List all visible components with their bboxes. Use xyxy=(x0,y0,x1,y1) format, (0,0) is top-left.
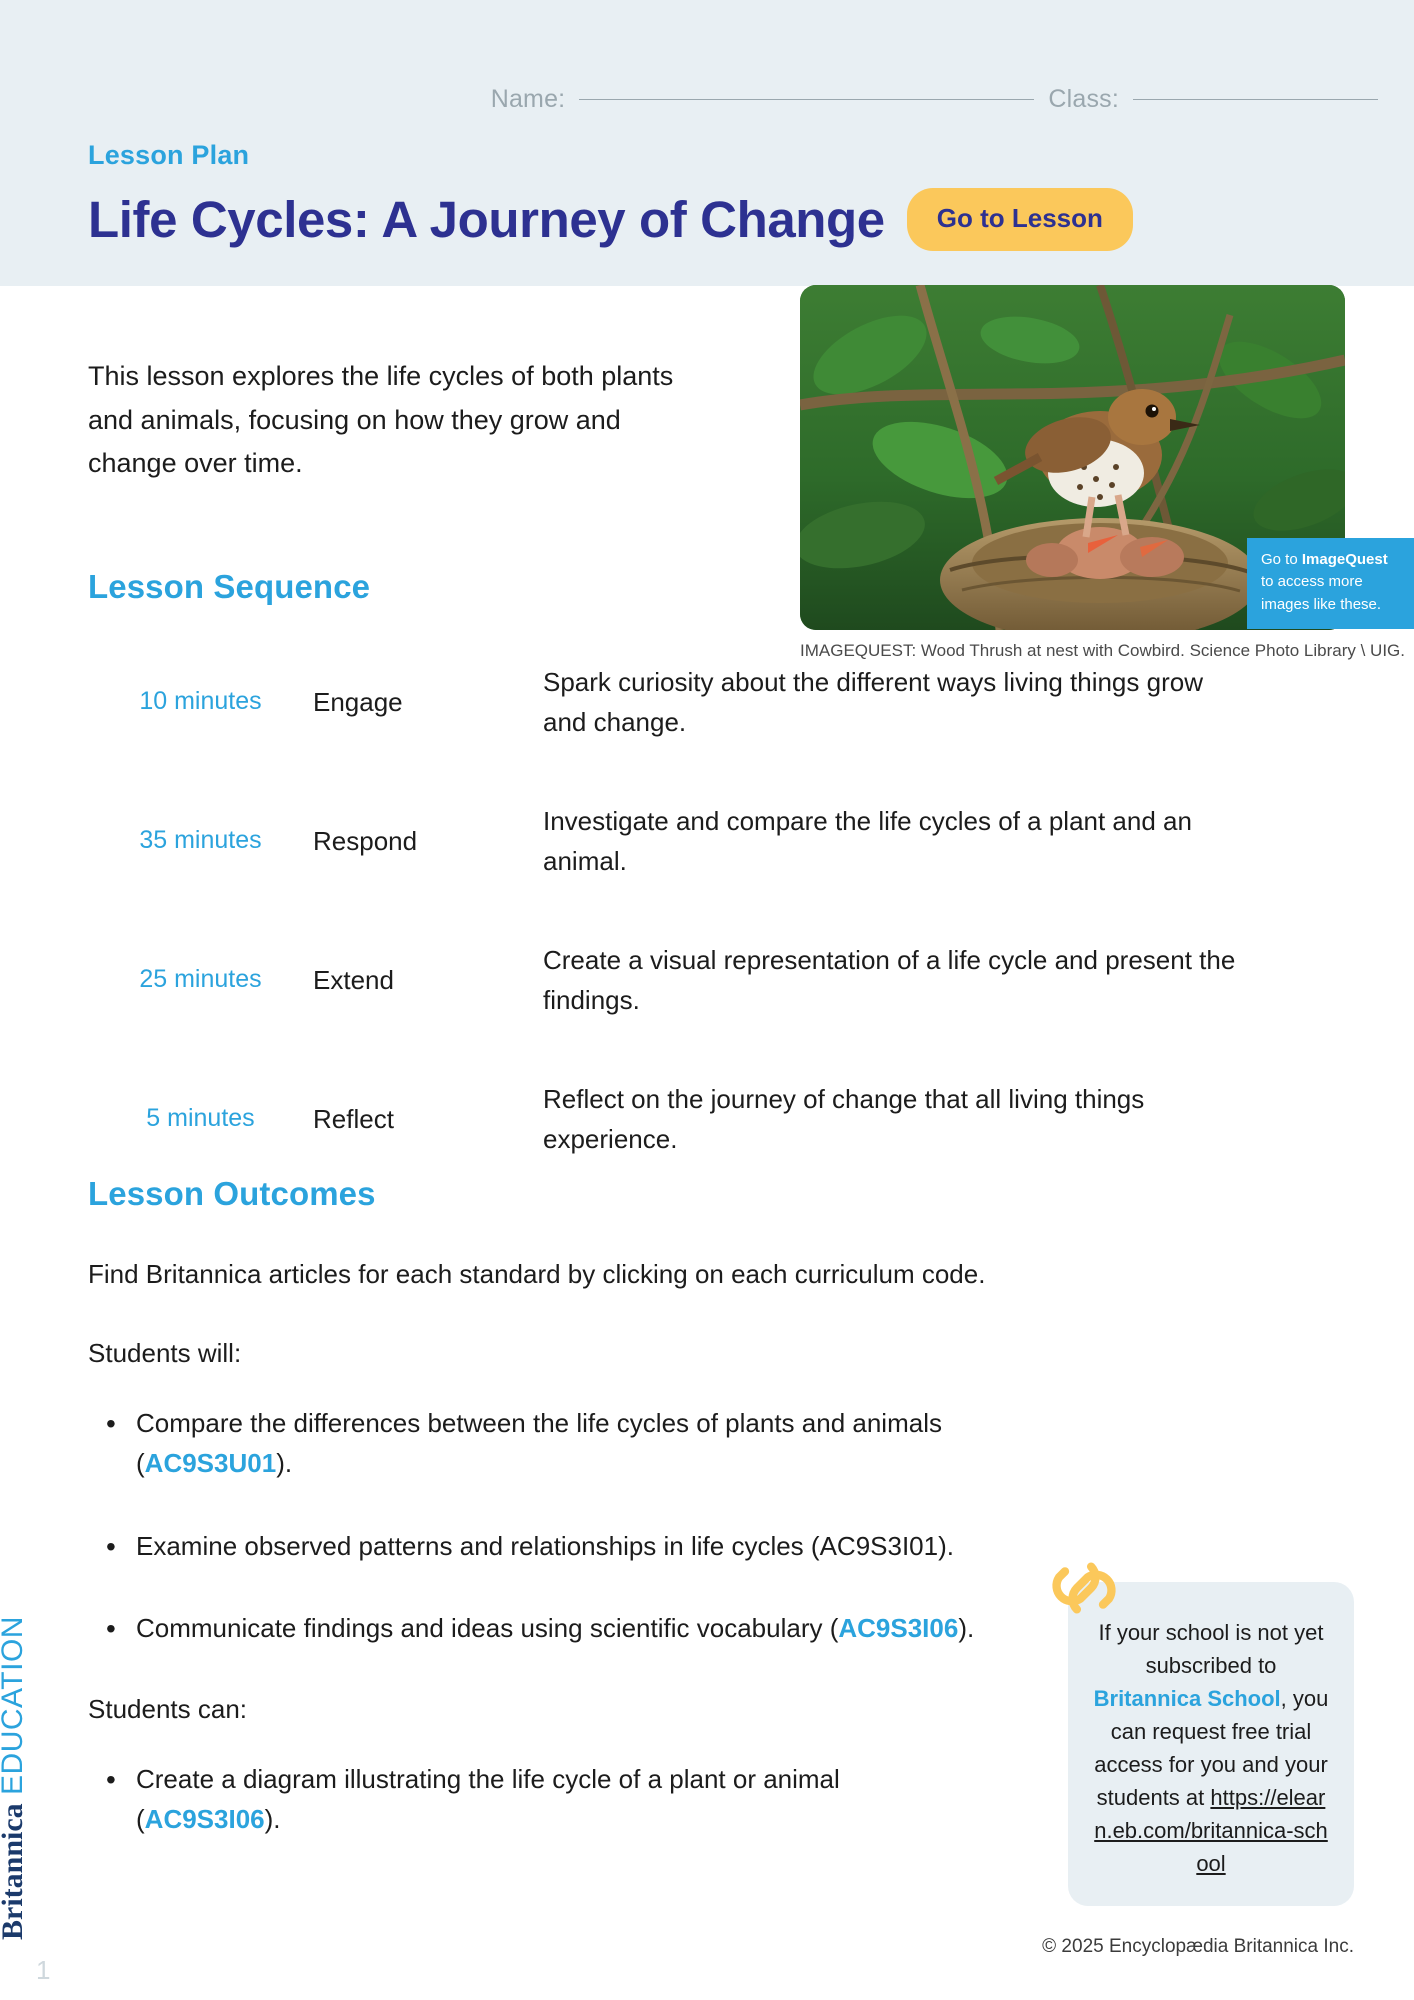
lesson-sequence-table: 10 minutes Engage Spark curiosity about … xyxy=(88,655,1328,1211)
intro-paragraph: This lesson explores the life cycles of … xyxy=(88,355,688,486)
outcome-text: Communicate findings and ideas using sci… xyxy=(136,1613,838,1643)
list-item: Create a diagram illustrating the life c… xyxy=(88,1759,988,1840)
imagequest-badge-prefix: Go to xyxy=(1261,551,1302,568)
sidebar-subtitle: EDUCATION xyxy=(0,1616,29,1795)
page-title: Life Cycles: A Journey of Change xyxy=(88,190,885,249)
page-number: 1 xyxy=(36,1955,50,1986)
sequence-time: 10 minutes xyxy=(88,655,313,716)
subscription-callout: If your school is not yet subscribed to … xyxy=(1068,1582,1354,1906)
student-fields-row: Name: Class: xyxy=(0,85,1414,114)
lesson-sequence-heading: Lesson Sequence xyxy=(88,568,370,606)
hero-image-block: Go to ImageQuest to access more images l… xyxy=(800,285,1345,661)
table-row: 10 minutes Engage Spark curiosity about … xyxy=(88,655,1328,794)
curriculum-code: AC9S3I01 xyxy=(820,1531,939,1561)
imagequest-badge[interactable]: Go to ImageQuest to access more images l… xyxy=(1247,538,1414,630)
curriculum-code-link[interactable]: AC9S3I06 xyxy=(838,1613,958,1643)
sequence-phase: Engage xyxy=(313,655,543,718)
sidebar-brand: Britannica xyxy=(0,1803,29,1940)
outcomes-intro: Find Britannica articles for each standa… xyxy=(88,1255,1338,1294)
sequence-time: 5 minutes xyxy=(88,1072,313,1133)
sequence-description: Spark curiosity about the different ways… xyxy=(543,655,1243,742)
sequence-phase: Reflect xyxy=(313,1072,543,1135)
sidebar-text: Britannica EDUCATION xyxy=(0,1616,30,1940)
outcome-text-after: ). xyxy=(958,1613,974,1643)
sequence-time: 25 minutes xyxy=(88,933,313,994)
document-kicker: Lesson Plan xyxy=(88,140,249,171)
outcome-text-after: ). xyxy=(276,1448,292,1478)
imagequest-badge-line3: images like these. xyxy=(1261,596,1381,613)
curriculum-code-link[interactable]: AC9S3U01 xyxy=(145,1448,277,1478)
table-row: 25 minutes Extend Create a visual repres… xyxy=(88,933,1328,1072)
title-row: Life Cycles: A Journey of Change Go to L… xyxy=(88,188,1133,251)
class-label: Class: xyxy=(1048,85,1119,114)
name-label: Name: xyxy=(491,85,566,114)
sequence-description: Create a visual representation of a life… xyxy=(543,933,1243,1020)
curriculum-code-link[interactable]: AC9S3I06 xyxy=(145,1804,265,1834)
list-item: Compare the differences between the life… xyxy=(88,1403,988,1484)
copyright-notice: © 2025 Encyclopædia Britannica Inc. xyxy=(1042,1936,1354,1958)
class-input-line[interactable] xyxy=(1133,99,1378,100)
britannica-school-brand: Britannica School xyxy=(1094,1686,1281,1711)
sequence-phase: Respond xyxy=(313,794,543,857)
sequence-description: Investigate and compare the life cycles … xyxy=(543,794,1243,881)
outcome-text: Examine observed patterns and relationsh… xyxy=(136,1531,820,1561)
go-to-lesson-button[interactable]: Go to Lesson xyxy=(907,188,1133,251)
imagequest-badge-line2: to access more xyxy=(1261,573,1363,590)
sequence-time: 35 minutes xyxy=(88,794,313,855)
chain-link-icon xyxy=(1046,1550,1122,1626)
promo-line-1: If your school is not xyxy=(1098,1620,1288,1645)
sequence-description: Reflect on the journey of change that al… xyxy=(543,1072,1243,1159)
lesson-outcomes-heading: Lesson Outcomes xyxy=(88,1175,376,1213)
outcome-text-after: ). xyxy=(265,1804,281,1834)
students-will-label: Students will: xyxy=(88,1334,1338,1373)
imagequest-badge-brand: ImageQuest xyxy=(1302,551,1388,568)
lesson-plan-page: Name: Class: Lesson Plan Life Cycles: A … xyxy=(0,0,1414,2000)
name-input-line[interactable] xyxy=(579,99,1034,100)
table-row: 35 minutes Respond Investigate and compa… xyxy=(88,794,1328,933)
outcome-text-after: ). xyxy=(938,1531,954,1561)
list-item: Examine observed patterns and relationsh… xyxy=(88,1526,988,1566)
list-item: Communicate findings and ideas using sci… xyxy=(88,1608,988,1648)
sidebar-branding: Britannica EDUCATION xyxy=(30,1520,76,1940)
sequence-phase: Extend xyxy=(313,933,543,996)
